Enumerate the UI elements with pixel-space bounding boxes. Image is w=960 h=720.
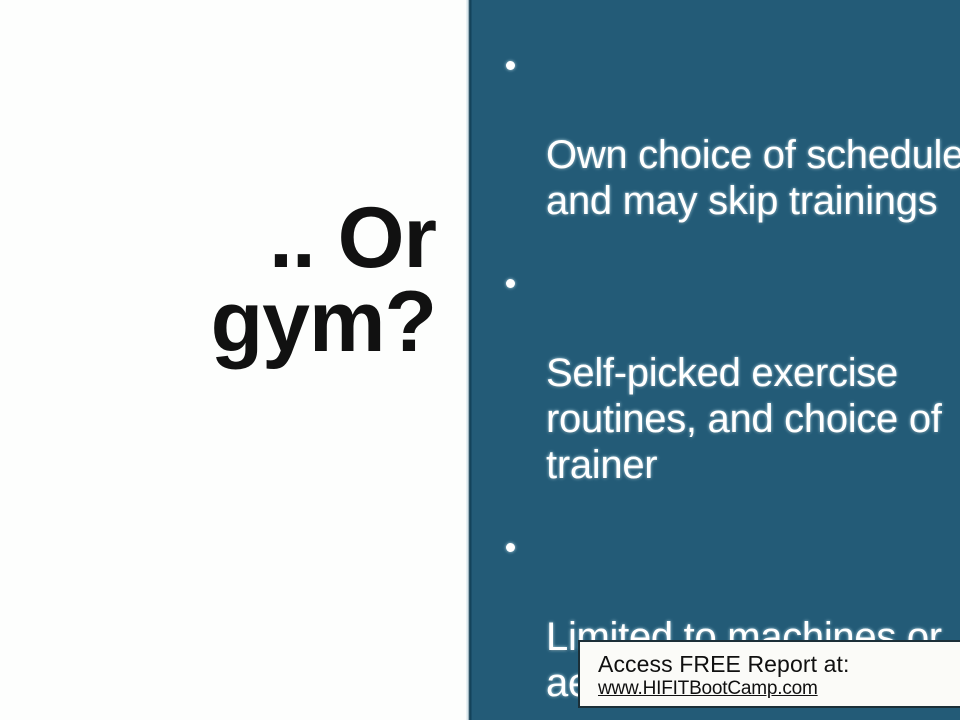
list-item: Self-picked exercise routines, and choic… [472,258,960,488]
free-report-heading: Access FREE Report at: [598,651,960,677]
slide-right-panel: Own choice of schedule and may skip trai… [472,0,960,720]
bullet-list: Own choice of schedule and may skip trai… [472,40,960,720]
list-item-label: Self-picked exercise routines, and choic… [546,351,942,487]
presentation-slide: .. Or gym? Own choice of schedule and ma… [0,0,960,720]
free-report-url-link[interactable]: www.HIFITBootCamp.com [598,677,960,700]
list-item-label: Own choice of schedule and may skip trai… [546,133,960,223]
free-report-callout: Access FREE Report at: www.HIFITBootCamp… [578,640,960,708]
bullet-dot-icon [506,543,515,552]
list-item: Own choice of schedule and may skip trai… [472,40,960,224]
bullet-dot-icon [506,279,515,288]
page-title: .. Or gym? [16,196,436,364]
slide-left-panel: .. Or gym? [0,0,466,720]
bullet-dot-icon [506,61,515,70]
